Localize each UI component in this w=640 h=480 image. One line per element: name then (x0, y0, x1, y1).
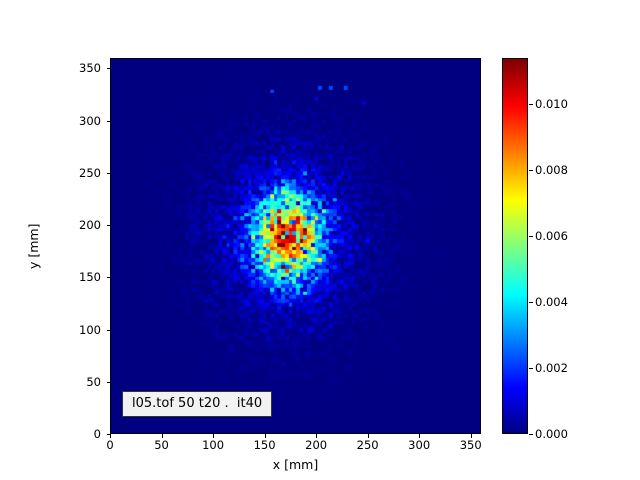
figure-canvas: 050100150200250300350 050100150200250300… (0, 0, 640, 480)
y-tick-mark (107, 121, 111, 122)
y-tick-mark (107, 330, 111, 331)
x-tick-label: 100 (202, 439, 224, 452)
legend-box: l05.tof 50 t20 . it40 (122, 391, 272, 417)
x-tick-label: 300 (408, 439, 430, 452)
colorbar (502, 58, 528, 434)
heatmap-image (111, 59, 480, 433)
y-tick-mark (107, 68, 111, 69)
colorbar-tick-mark (529, 302, 533, 303)
x-tick-mark (368, 434, 369, 438)
y-tick-mark (107, 173, 111, 174)
x-tick-mark (316, 434, 317, 438)
x-tick-label: 350 (460, 439, 482, 452)
x-tick-label: 0 (106, 439, 113, 452)
colorbar-tick-label: 0.006 (535, 229, 568, 243)
x-tick-mark (419, 434, 420, 438)
colorbar-tick-mark (529, 104, 533, 105)
x-tick-mark (213, 434, 214, 438)
colorbar-tick-mark (529, 170, 533, 171)
y-axis-label: y [mm] (26, 223, 41, 268)
x-tick-mark (162, 434, 163, 438)
heatmap-axes (110, 58, 481, 434)
y-tick-mark (107, 434, 111, 435)
x-tick-label: 50 (154, 439, 169, 452)
x-tick-label: 150 (254, 439, 276, 452)
x-tick-label: 250 (357, 439, 379, 452)
y-tick-mark (107, 225, 111, 226)
colorbar-tick-label: 0.000 (535, 427, 568, 441)
colorbar-tick-label: 0.002 (535, 361, 568, 375)
colorbar-tick-mark (529, 368, 533, 369)
x-tick-mark (110, 434, 111, 438)
colorbar-tick-label: 0.010 (535, 97, 568, 111)
y-tick-mark (107, 382, 111, 383)
x-tick-mark (265, 434, 266, 438)
x-axis-label: x [mm] (110, 457, 481, 472)
y-tick-mark (107, 277, 111, 278)
colorbar-tick-mark (529, 236, 533, 237)
colorbar-tick-label: 0.004 (535, 295, 568, 309)
colorbar-tick-mark (529, 434, 533, 435)
x-tick-label: 200 (305, 439, 327, 452)
x-tick-mark (471, 434, 472, 438)
colorbar-tick-label: 0.008 (535, 163, 568, 177)
colorbar-gradient (503, 59, 528, 434)
